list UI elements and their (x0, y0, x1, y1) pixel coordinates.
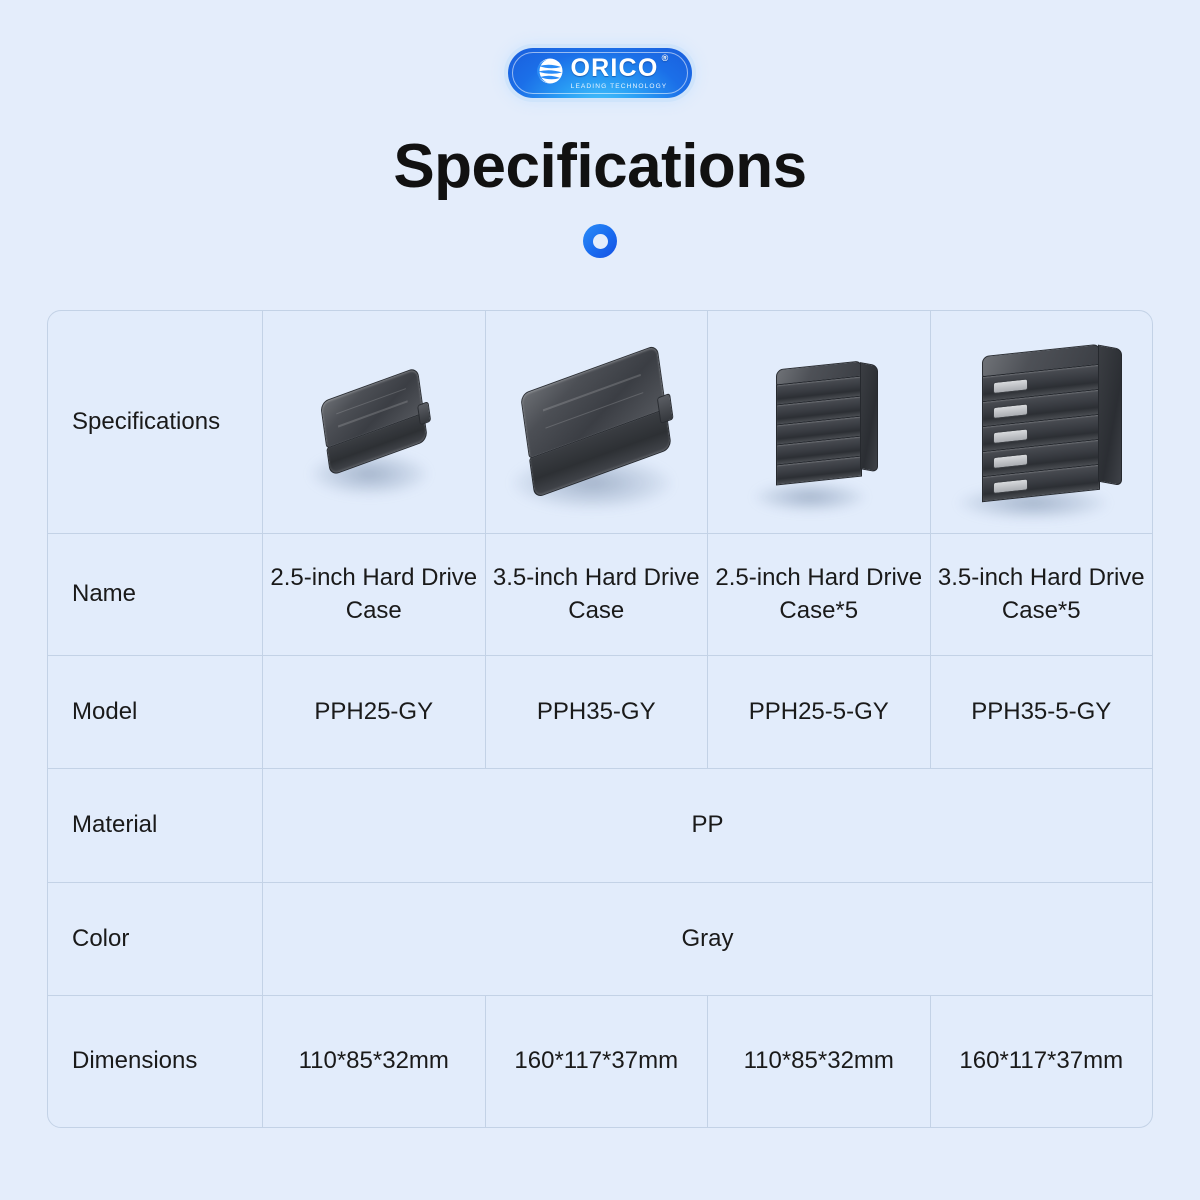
logo-pill: ORICO® LEADING TECHNOLOGY (508, 48, 692, 98)
table-row-material: Material PP (48, 769, 1152, 883)
dimensions-value-1: 110*85*32mm (263, 996, 486, 1127)
dimensions-value-2: 160*117*37mm (486, 996, 709, 1127)
table-row-name: Name 2.5-inch Hard Drive Case 3.5-inch H… (48, 534, 1152, 656)
table-row-dimensions: Dimensions 110*85*32mm 160*117*37mm 110*… (48, 996, 1152, 1127)
row-label-dimensions: Dimensions (48, 996, 263, 1127)
product-image-cell-3 (708, 311, 931, 533)
row-label-name: Name (48, 534, 263, 655)
model-value-2: PPH35-GY (486, 656, 709, 768)
product-image-cell-2 (486, 311, 709, 533)
model-value-3: PPH25-5-GY (708, 656, 931, 768)
specifications-page: ORICO® LEADING TECHNOLOGY Specifications… (0, 0, 1200, 1200)
name-value-3: 2.5-inch Hard Drive Case*5 (708, 534, 931, 655)
brand-logo: ORICO® LEADING TECHNOLOGY (0, 48, 1200, 98)
row-label-material: Material (48, 769, 263, 882)
product-image-cell-1 (263, 311, 486, 533)
row-label-model: Model (48, 656, 263, 768)
registered-trademark-icon: ® (662, 54, 670, 63)
dimensions-value-3: 110*85*32mm (708, 996, 931, 1127)
specifications-table: Specifications (47, 310, 1153, 1128)
table-row-model: Model PPH25-GY PPH35-GY PPH25-5-GY PPH35… (48, 656, 1152, 769)
model-value-4: PPH35-5-GY (931, 656, 1153, 768)
name-value-4: 3.5-inch Hard Drive Case*5 (931, 534, 1153, 655)
name-value-2: 3.5-inch Hard Drive Case (486, 534, 709, 655)
dimensions-value-4: 160*117*37mm (931, 996, 1153, 1127)
globe-swoosh-icon (535, 56, 565, 91)
logo-wordmark: ORICO® (571, 56, 668, 81)
table-row-color: Color Gray (48, 883, 1152, 996)
model-value-1: PPH25-GY (263, 656, 486, 768)
table-corner-label: Specifications (48, 311, 263, 533)
table-row-images: Specifications (48, 311, 1152, 534)
name-value-1: 2.5-inch Hard Drive Case (263, 534, 486, 655)
material-value: PP (263, 769, 1152, 882)
row-label-color: Color (48, 883, 263, 995)
blue-ring-divider-icon (583, 224, 617, 258)
product-image-cell-4 (931, 311, 1153, 533)
logo-tagline: LEADING TECHNOLOGY (571, 84, 668, 91)
color-value: Gray (263, 883, 1152, 995)
page-title: Specifications (0, 131, 1200, 202)
